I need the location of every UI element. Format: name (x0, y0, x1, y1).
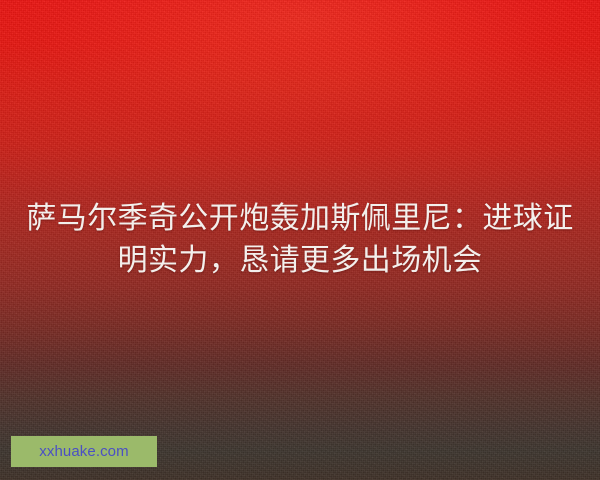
watermark-site-label: xxhuake.com (39, 444, 128, 459)
headline-text: 萨马尔季奇公开炮轰加斯佩里尼：进球证明实力，恳请更多出场机会 (22, 198, 578, 282)
headline-container: 萨马尔季奇公开炮轰加斯佩里尼：进球证明实力，恳请更多出场机会 (0, 198, 600, 282)
news-thumbnail-card: 萨马尔季奇公开炮轰加斯佩里尼：进球证明实力，恳请更多出场机会 xxhuake.c… (0, 0, 600, 480)
watermark-badge: xxhuake.com (11, 436, 157, 467)
